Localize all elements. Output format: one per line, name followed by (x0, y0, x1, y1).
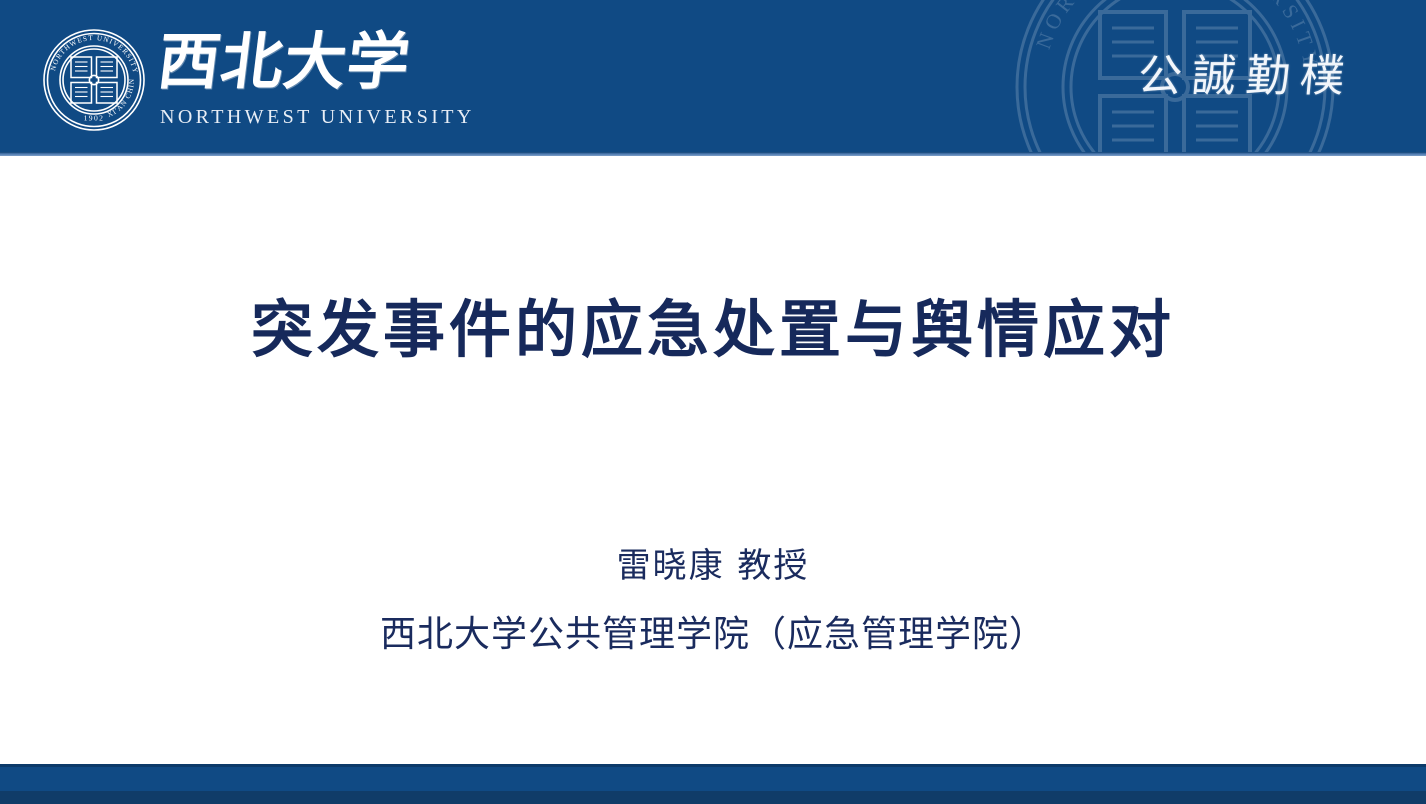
wordmark: 西北大学 NORTHWEST UNIVERSITY (158, 24, 458, 136)
presenter-affiliation: 西北大学公共管理学院（应急管理学院） (0, 610, 1426, 660)
header-band: NORTHWEST UNIVERSITY (0, 0, 1426, 152)
university-logo: NORTHWEST UNIVERSITY XI'AN CHINA 1902 西北… (42, 24, 462, 136)
svg-text:1902: 1902 (84, 114, 105, 123)
wordmark-english: NORTHWEST UNIVERSITY (160, 106, 475, 129)
university-seal-icon: NORTHWEST UNIVERSITY XI'AN CHINA 1902 (42, 28, 146, 132)
presenter-name: 雷晓康 教授 (0, 543, 1426, 589)
footer-band (0, 767, 1426, 791)
university-motto: 公誠勤樸 (1136, 52, 1356, 102)
wordmark-chinese: 西北大学 (153, 26, 424, 100)
slide-title: 突发事件的应急处置与舆情应对 (0, 288, 1426, 372)
title-slide: NORTHWEST UNIVERSITY (0, 0, 1426, 804)
footer-band-accent (0, 791, 1426, 804)
header-separator-rule (0, 152, 1426, 156)
